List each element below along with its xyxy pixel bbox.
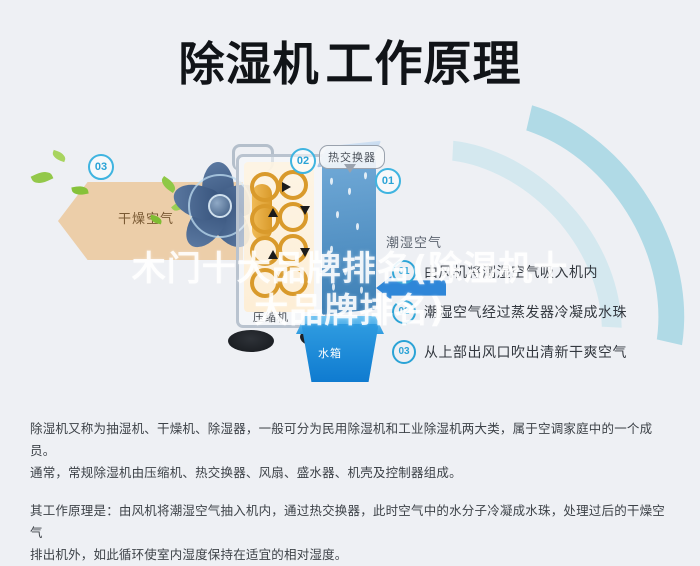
- description-body: 除湿机又称为抽湿机、干燥机、除湿器，一般可分为民用除湿机和工业除湿机两大类，属于…: [30, 418, 676, 566]
- compressor-coil-assembly: [244, 162, 314, 312]
- paragraph-2-line-1: 其工作原理是：由风机将潮湿空气抽入机内，通过热交换器，此时空气中的水分子冷凝成水…: [30, 500, 676, 544]
- callout-pointer-icon: [344, 164, 356, 173]
- page-title-part2: 工作原理: [325, 38, 521, 91]
- list-item: 01 由风机将潮湿空气吸入机内: [392, 252, 692, 292]
- diagram-badge-01: 01: [375, 168, 401, 194]
- diagram-badge-03: 03: [88, 154, 114, 180]
- compressor-base-icon: [228, 330, 274, 352]
- compressor-label: 压缩机: [253, 309, 289, 325]
- paragraph-1-line-1: 除湿机又称为抽湿机、干燥机、除湿器，一般可分为民用除湿机和工业除湿机两大类，属于…: [30, 418, 676, 462]
- step-text: 潮湿空气经过蒸发器冷凝成水珠: [424, 302, 627, 322]
- flow-arrow-down-icon: [300, 248, 310, 257]
- list-item: 02 潮湿空气经过蒸发器冷凝成水珠: [392, 292, 692, 332]
- step-text: 从上部出风口吹出清新干爽空气: [424, 342, 627, 362]
- step-number: 01: [392, 260, 416, 284]
- dry-air-label: 干燥空气: [118, 208, 174, 227]
- list-item: 03 从上部出风口吹出清新干爽空气: [392, 332, 692, 372]
- flow-arrow-down-icon: [300, 206, 310, 215]
- page-title: 除湿机工作原理: [0, 24, 700, 94]
- infographic-page: 除湿机工作原理 干燥空气: [0, 0, 700, 566]
- page-title-part1: 除湿机: [178, 37, 319, 91]
- flow-arrow-up-icon: [268, 208, 278, 217]
- paragraph-2-line-2: 排出机外，如此循环使室内湿度保持在适宜的相对湿度。: [30, 544, 676, 566]
- flow-arrow-right-icon: [282, 182, 291, 192]
- humid-air-label: 潮湿空气: [386, 232, 442, 251]
- water-tank-label: 水箱: [318, 345, 342, 361]
- paragraph-1-line-2: 通常，常规除湿机由压缩机、热交换器、风扇、盛水器、机壳及控制器组成。: [30, 462, 676, 484]
- leaf-icon: [51, 150, 67, 162]
- step-number: 02: [392, 300, 416, 324]
- leaf-icon: [31, 168, 54, 186]
- diagram-badge-02: 02: [290, 148, 316, 174]
- flow-arrow-up-icon: [268, 250, 278, 259]
- step-list: 01 由风机将潮湿空气吸入机内 02 潮湿空气经过蒸发器冷凝成水珠 03 从上部…: [392, 252, 692, 372]
- step-text: 由风机将潮湿空气吸入机内: [424, 262, 598, 282]
- evaporator-fins-icon: [322, 159, 376, 315]
- step-number: 03: [392, 340, 416, 364]
